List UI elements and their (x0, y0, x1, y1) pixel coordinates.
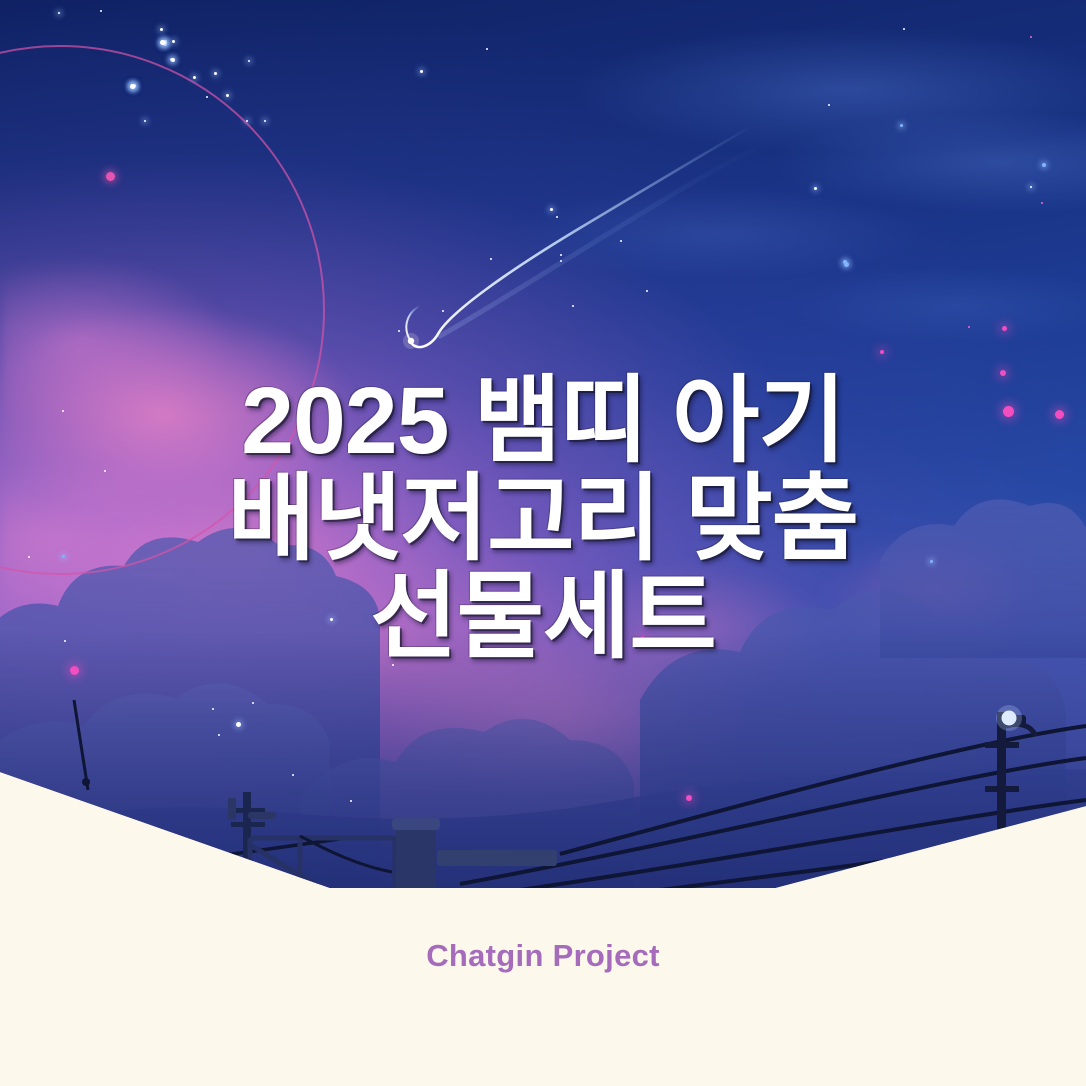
footer: Chatgin Project (0, 938, 1086, 974)
night-sky-artwork (0, 0, 1086, 900)
brand-name: Chatgin Project (426, 938, 660, 973)
powerlines-and-poles (0, 0, 1086, 900)
poster-canvas: 2025 뱀띠 아기 배냇저고리 맞춤 선물세트 Chatgin Project (0, 0, 1086, 1086)
